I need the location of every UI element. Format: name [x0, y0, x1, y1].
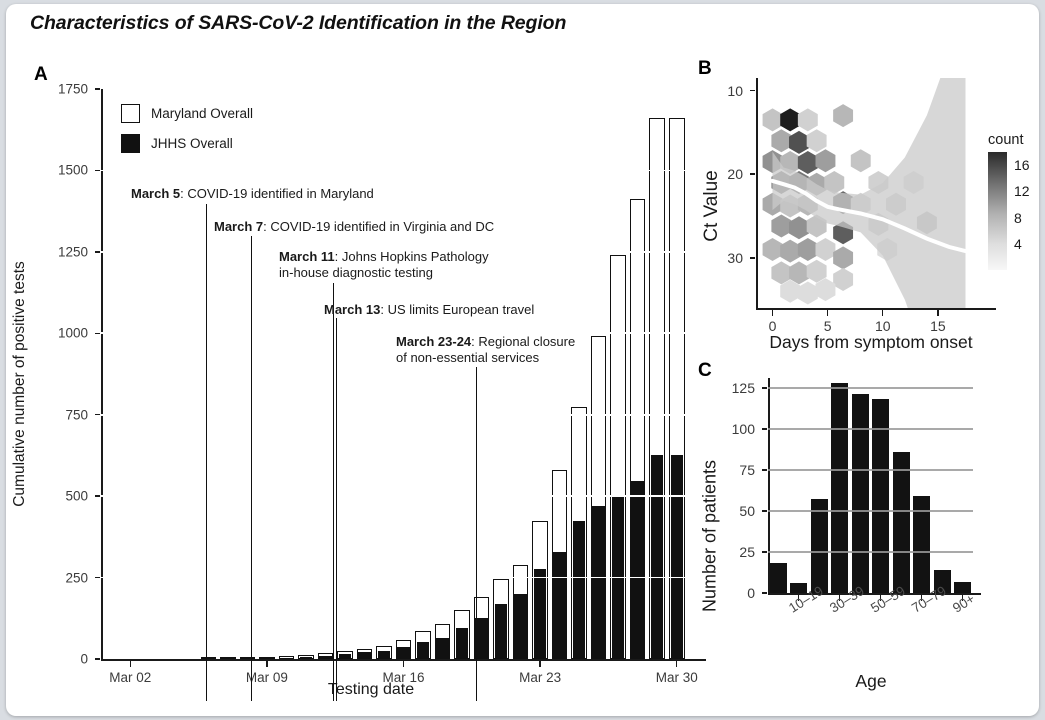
panel-a-y-tick-mark[interactable]: [95, 414, 100, 415]
panel-b-y-tick-label[interactable]: 10: [727, 83, 743, 99]
panel-a-annotation-date: March 11: [279, 249, 335, 264]
panel-a-legend: Maryland OverallJHHS Overall: [121, 104, 341, 164]
panel-a-annotation-date: March 5: [131, 186, 180, 201]
panel-b-x-tick-mark[interactable]: [827, 310, 828, 316]
panel-a-y-tick-mark[interactable]: [95, 658, 100, 659]
panel-a-bar-jhhs[interactable]: [495, 604, 507, 659]
panel-a-annotation-leader-line[interactable]: [476, 367, 477, 701]
panel-b-hexbin-cell: [833, 104, 853, 127]
panel-c-bar[interactable]: [893, 452, 910, 593]
panel-b-legend-gradient: [988, 152, 1007, 270]
panel-b-y-tick-mark[interactable]: [750, 90, 755, 91]
panel-c-bar[interactable]: [770, 563, 787, 593]
panel-a-y-tick-label[interactable]: 750: [65, 407, 88, 422]
panel-b-legend-tick-label[interactable]: 4: [1014, 236, 1022, 252]
panel-a-y-tick-label[interactable]: 500: [65, 489, 88, 504]
panel-b-hexbin-cell: [833, 268, 853, 291]
panel-b-hexbin-cell: [851, 149, 871, 172]
panel-a-annotation[interactable]: March 11: Johns Hopkins Pathologyin-hous…: [279, 249, 489, 281]
figure-card: Characteristics of SARS-CoV-2 Identifica…: [6, 4, 1039, 716]
panel-a-annotation-text: : COVID-19 identified in Maryland: [180, 186, 374, 201]
panel-a-bar-jhhs[interactable]: [319, 656, 331, 659]
panel-a-bar-jhhs[interactable]: [339, 654, 351, 659]
panel-b-y-tick-mark[interactable]: [750, 173, 755, 174]
panel-a-legend-label[interactable]: Maryland Overall: [151, 106, 253, 121]
panel-a-legend-item[interactable]: JHHS Overall: [121, 134, 233, 153]
panel-a-gridline[interactable]: [101, 170, 706, 172]
panel-c-y-axis[interactable]: [768, 378, 770, 593]
panel-a-annotation-text-line2[interactable]: in-house diagnostic testing: [279, 265, 489, 281]
panel-b-legend-tick-label[interactable]: 12: [1014, 183, 1030, 199]
panel-a-bar-jhhs[interactable]: [514, 594, 526, 659]
panel-c-y-tick-label[interactable]: 125: [732, 380, 755, 396]
panel-b-hexbin-cell: [807, 129, 827, 152]
panel-a-legend-item[interactable]: Maryland Overall: [121, 104, 253, 123]
panel-a-y-tick-mark[interactable]: [95, 251, 100, 252]
panel-a-bar-jhhs[interactable]: [553, 552, 565, 659]
panel-c-y-tick-mark[interactable]: [762, 510, 767, 511]
panel-b-x-tick-label[interactable]: 10: [875, 318, 891, 334]
panel-c-y-tick-mark[interactable]: [762, 387, 767, 388]
panel-c-x-axis-label: Age: [855, 671, 886, 692]
panel-a-bar-jhhs[interactable]: [280, 658, 292, 660]
panel-a-annotation-text: : Regional closure: [471, 334, 575, 349]
panel-a-bar-jhhs[interactable]: [397, 647, 409, 659]
panel-a-bar-jhhs[interactable]: [300, 657, 312, 659]
panel-c-y-tick-mark[interactable]: [762, 428, 767, 429]
panel-a-annotation[interactable]: March 7: COVID-19 identified in Virginia…: [214, 219, 494, 235]
panel-a-annotation-leader-line[interactable]: [206, 204, 207, 701]
panel-a-bar-jhhs[interactable]: [573, 521, 585, 659]
panel-a-x-tick-label[interactable]: Mar 02: [109, 670, 151, 685]
panel-c: C Number of patients Age 025507510012510…: [696, 356, 1039, 716]
panel-b: B Ct Value Days from symptom onset 10203…: [696, 56, 1039, 356]
panel-a-bar-jhhs[interactable]: [261, 658, 273, 660]
panel-a-annotation-text: : Johns Hopkins Pathology: [335, 249, 489, 264]
panel-c-y-tick-label[interactable]: 100: [732, 421, 755, 437]
panel-a-y-tick-mark[interactable]: [95, 88, 100, 89]
legend-swatch-jhhs[interactable]: [121, 134, 140, 153]
panel-b-x-axis-label: Days from symptom onset: [769, 332, 972, 353]
panel-a-bar-jhhs[interactable]: [631, 481, 643, 659]
panel-a-annotation[interactable]: March 13: US limits European travel: [324, 302, 534, 318]
panel-a-y-tick-label[interactable]: 0: [80, 652, 88, 667]
panel-a-gridline[interactable]: [101, 495, 706, 497]
panel-a-bar-jhhs[interactable]: [378, 651, 390, 659]
panel-c-y-axis-label: Number of patients: [700, 460, 721, 612]
panel-a-y-tick-mark[interactable]: [95, 577, 100, 578]
panel-c-bar[interactable]: [831, 383, 848, 593]
panel-a-x-tick-mark[interactable]: [403, 661, 404, 667]
panel-a-x-tick-mark[interactable]: [266, 661, 267, 667]
panel-c-y-tick-label[interactable]: 0: [747, 585, 755, 601]
panel-a-bar-jhhs[interactable]: [358, 652, 370, 659]
panel-a-y-axis-label: Cumulative number of positive tests: [11, 261, 29, 507]
legend-swatch-maryland[interactable]: [121, 104, 140, 123]
panel-b-legend-tick-label[interactable]: 16: [1014, 157, 1030, 173]
panel-c-y-tick-mark[interactable]: [762, 551, 767, 552]
panel-b-hexbin-cell: [816, 149, 836, 172]
panel-a-bar-jhhs[interactable]: [534, 569, 546, 659]
panel-a-bar-jhhs[interactable]: [222, 658, 234, 660]
panel-b-x-tick-label[interactable]: 0: [769, 318, 777, 334]
panel-b-hexbin-cell: [763, 238, 783, 261]
panel-a-x-tick-label[interactable]: Mar 16: [382, 670, 424, 685]
panel-b-hexbin-cell: [816, 238, 836, 261]
panel-c-gridline[interactable]: [768, 428, 973, 429]
panel-a-bar-jhhs[interactable]: [671, 455, 683, 659]
panel-b-hexbin-cell: [798, 151, 818, 174]
panel-b-y-tick-label[interactable]: 20: [727, 166, 743, 182]
panel-a-y-tick-label[interactable]: 1750: [58, 82, 88, 97]
panel-a-annotation-text-line2[interactable]: of non-essential services: [396, 350, 575, 366]
panel-a-y-axis[interactable]: [101, 89, 103, 659]
panel-b-x-tick-label[interactable]: 5: [824, 318, 832, 334]
panel-b-legend-title: count: [988, 132, 1023, 148]
panel-a-annotation-date: March 7: [214, 219, 263, 234]
panel-b-hexbin-cell: [771, 129, 791, 152]
panel-c-letter: C: [698, 360, 712, 382]
panel-c-gridline[interactable]: [768, 387, 973, 388]
panel-a-bar-maryland[interactable]: [201, 657, 217, 659]
panel-b-x-tick-mark[interactable]: [882, 310, 883, 316]
panel-b-hexbin-canvas: [756, 78, 971, 308]
panel-c-gridline[interactable]: [768, 469, 973, 470]
panel-b-y-tick-label[interactable]: 30: [727, 250, 743, 266]
panel-c-y-tick-mark[interactable]: [762, 469, 767, 470]
panel-a-annotation-text: : US limits European travel: [380, 302, 534, 317]
panel-b-y-axis-label: Ct Value: [701, 170, 723, 241]
panel-a-annotation-leader-line[interactable]: [336, 318, 337, 701]
panel-a-bar-jhhs[interactable]: [417, 642, 429, 659]
panel-a-gridline[interactable]: [101, 414, 706, 416]
panel-a-x-tick-label[interactable]: Mar 23: [519, 670, 561, 685]
panel-a: A Cumulative number of positive tests Te…: [26, 64, 716, 704]
panel-c-y-tick-label[interactable]: 25: [739, 544, 755, 560]
panel-a-bar-jhhs[interactable]: [592, 506, 604, 659]
panel-b-hexbin-cell: [789, 216, 809, 239]
panel-c-bar[interactable]: [852, 394, 869, 593]
panel-a-bar-jhhs[interactable]: [456, 628, 468, 659]
panel-c-y-tick-label[interactable]: 75: [739, 462, 755, 478]
panel-a-annotation-date: March 13: [324, 302, 380, 317]
panel-b-hexbin-cell: [798, 108, 818, 131]
panel-b-hexbin-cell: [771, 215, 791, 238]
panel-a-annotation[interactable]: March 23-24: Regional closureof non-esse…: [396, 334, 575, 366]
panel-b-y-axis[interactable]: [756, 78, 758, 308]
panel-a-bar-jhhs[interactable]: [436, 638, 448, 659]
panel-c-gridline[interactable]: [768, 551, 973, 552]
panel-a-y-tick-label[interactable]: 1500: [58, 163, 88, 178]
panel-c-y-tick-label[interactable]: 50: [739, 503, 755, 519]
panel-a-y-tick-label[interactable]: 250: [65, 570, 88, 585]
panel-a-annotation-leader-line[interactable]: [251, 236, 252, 701]
panel-a-y-tick-mark[interactable]: [95, 333, 100, 334]
panel-b-x-tick-mark[interactable]: [937, 310, 938, 316]
panel-b-hexbin-cell: [763, 108, 783, 131]
panel-a-y-tick-mark[interactable]: [95, 495, 100, 496]
panel-c-gridline[interactable]: [768, 510, 973, 511]
panel-a-x-tick-mark[interactable]: [676, 661, 677, 667]
panel-a-x-tick-mark[interactable]: [130, 661, 131, 667]
panel-c-x-tick-label[interactable]: 90+: [950, 591, 977, 616]
panel-c-plot-area: 025507510012510–1930–3950–5970–7990+: [768, 378, 973, 593]
panel-a-x-tick-mark[interactable]: [539, 661, 540, 667]
panel-a-annotation-date: March 23-24: [396, 334, 471, 349]
panel-c-bar[interactable]: [811, 499, 828, 593]
panel-a-annotation[interactable]: March 5: COVID-19 identified in Maryland: [131, 186, 374, 202]
panel-a-annotation-leader-line[interactable]: [333, 283, 334, 701]
panel-a-plot-area: 02505007501000125015001750Mar 02Mar 09Ma…: [101, 89, 706, 659]
panel-c-y-tick-mark[interactable]: [762, 592, 767, 593]
panel-a-y-tick-mark[interactable]: [95, 170, 100, 171]
panel-b-letter: B: [698, 58, 712, 80]
panel-a-annotation-text: : COVID-19 identified in Virginia and DC: [263, 219, 494, 234]
panel-b-x-axis[interactable]: [756, 308, 996, 310]
panel-b-hexbin-cell: [780, 240, 800, 263]
panel-b-y-tick-mark[interactable]: [750, 257, 755, 258]
panel-b-hexbin-cell: [798, 281, 818, 304]
panel-b-hexbin-cell: [789, 131, 809, 154]
panel-a-gridline[interactable]: [101, 577, 706, 579]
panel-a-y-tick-label[interactable]: 1250: [58, 244, 88, 259]
panel-a-letter: A: [34, 64, 48, 86]
panel-b-x-tick-label[interactable]: 15: [930, 318, 946, 334]
panel-b-hexbin-cell: [833, 246, 853, 269]
panel-a-y-tick-label[interactable]: 1000: [58, 326, 88, 341]
panel-a-x-tick-label[interactable]: Mar 30: [656, 670, 698, 685]
panel-b-x-tick-mark[interactable]: [772, 310, 773, 316]
panel-b-legend-tick-label[interactable]: 8: [1014, 210, 1022, 226]
panel-b-hexbin-cell: [780, 108, 800, 131]
figure-title: Characteristics of SARS-CoV-2 Identifica…: [30, 12, 566, 35]
panel-b-plot-area: 102030051015: [756, 78, 971, 308]
panel-a-legend-label[interactable]: JHHS Overall: [151, 136, 233, 151]
panel-b-hexbin-cell: [798, 238, 818, 261]
panel-a-bar-jhhs[interactable]: [651, 455, 663, 659]
